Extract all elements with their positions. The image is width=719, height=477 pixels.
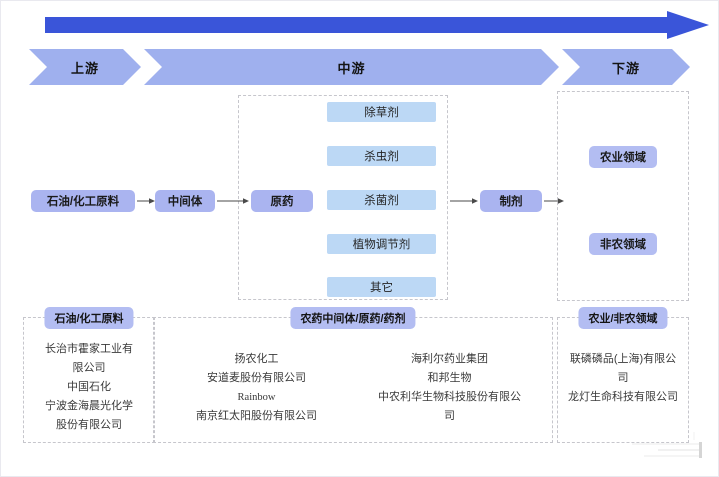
product-category-label: 其它 (370, 279, 393, 295)
product-category-label: 除草剂 (364, 104, 399, 120)
connector-arrow-products-to-formulation (450, 195, 478, 207)
company-panel-upstream: 石油/化工原料 长治市霍家工业有 限公司 中国石化 宁波金海晨光化学 股份有限公… (23, 317, 155, 443)
company-panel-midstream: 农药中间体/原药/药剂 扬农化工 安道麦股份有限公司 Rainbow 南京红太阳… (153, 317, 553, 443)
company-name: 海利尔药业集团 (353, 350, 546, 369)
product-category-other[interactable]: 其它 (327, 277, 436, 297)
stage-chevron-upstream: 上游 (29, 49, 141, 85)
flow-node-technical-material[interactable]: 原药 (251, 190, 313, 212)
connector-arrow-raw-to-intermediate (137, 195, 155, 207)
flow-node-intermediate[interactable]: 中间体 (155, 190, 215, 212)
connector-arrow-formulation-to-applications (544, 195, 564, 207)
company-column: 扬农化工 安道麦股份有限公司 Rainbow 南京红太阳股份有限公司 (160, 350, 353, 426)
company-panel-body: 长治市霍家工业有 限公司 中国石化 宁波金海晨光化学 股份有限公司 (24, 340, 154, 438)
stage-label-downstream: 下游 (612, 58, 640, 77)
stage-label-upstream: 上游 (71, 58, 99, 77)
flow-node-upstream-raw-material[interactable]: 石油/化工原料 (31, 190, 135, 212)
company-panel-title: 农药中间体/原药/药剂 (290, 307, 415, 329)
company-name: 安道麦股份有限公司 (160, 369, 353, 388)
company-name: Rainbow (160, 388, 353, 407)
application-label: 非农领域 (600, 236, 646, 252)
company-name: 司 (353, 407, 546, 426)
company-name: 中国石化 (30, 378, 148, 397)
stage-label-midstream: 中游 (337, 58, 365, 77)
flow-node-label: 制剂 (500, 193, 523, 209)
company-panel-body: 联磷磷品(上海)有限公 司 龙灯生命科技有限公司 (558, 350, 688, 438)
product-category-label: 杀菌剂 (364, 192, 399, 208)
company-name: 和邦生物 (353, 369, 546, 388)
downstream-group-panel (557, 91, 689, 301)
application-agriculture[interactable]: 农业领域 (589, 146, 657, 168)
flow-node-formulation[interactable]: 制剂 (480, 190, 542, 212)
company-name: 宁波金海晨光化学 (30, 397, 148, 416)
flow-node-label: 原药 (271, 193, 294, 209)
product-category-label: 杀虫剂 (364, 148, 399, 164)
company-panel-downstream: 农业/非农领域 联磷磷品(上海)有限公 司 龙灯生命科技有限公司 (557, 317, 689, 443)
value-chain-direction-arrow (45, 11, 709, 39)
value-chain-diagram: 上游 中游 下游 石油/化工原料 中间体 原药 制剂 除草剂 (0, 0, 719, 477)
flow-node-label: 石油/化工原料 (47, 193, 119, 209)
company-name: 联磷磷品(上海)有限公 (564, 350, 682, 369)
stage-chevron-midstream: 中游 (144, 49, 559, 85)
application-non-agriculture[interactable]: 非农领域 (589, 233, 657, 255)
company-name: 龙灯生命科技有限公司 (564, 388, 682, 407)
product-category-plant-growth-regulator[interactable]: 植物调节剂 (327, 234, 436, 254)
connector-arrow-intermediate-to-technical (217, 195, 249, 207)
company-panel-title: 石油/化工原料 (44, 307, 133, 329)
application-label: 农业领域 (600, 149, 646, 165)
company-panel-body: 扬农化工 安道麦股份有限公司 Rainbow 南京红太阳股份有限公司 海利尔药业… (154, 350, 552, 438)
stage-chevron-downstream: 下游 (562, 49, 690, 85)
company-column: 长治市霍家工业有 限公司 中国石化 宁波金海晨光化学 股份有限公司 (30, 340, 148, 435)
company-name: 长治市霍家工业有 (30, 340, 148, 359)
company-name: 中农利华生物科技股份有限公 (353, 388, 546, 407)
company-name: 司 (564, 369, 682, 388)
product-category-fungicide[interactable]: 杀菌剂 (327, 190, 436, 210)
company-name: 南京红太阳股份有限公司 (160, 407, 353, 426)
company-name: 扬农化工 (160, 350, 353, 369)
company-panel-title: 农业/非农领域 (578, 307, 667, 329)
product-category-insecticide[interactable]: 杀虫剂 (327, 146, 436, 166)
company-column: 联磷磷品(上海)有限公 司 龙灯生命科技有限公司 (564, 350, 682, 407)
company-name: 股份有限公司 (30, 416, 148, 435)
product-category-label: 植物调节剂 (353, 236, 411, 252)
product-category-herbicide[interactable]: 除草剂 (327, 102, 436, 122)
company-column: 海利尔药业集团 和邦生物 中农利华生物科技股份有限公 司 (353, 350, 546, 426)
company-name: 限公司 (30, 359, 148, 378)
watermark-mark (632, 432, 710, 466)
flow-node-label: 中间体 (168, 193, 203, 209)
